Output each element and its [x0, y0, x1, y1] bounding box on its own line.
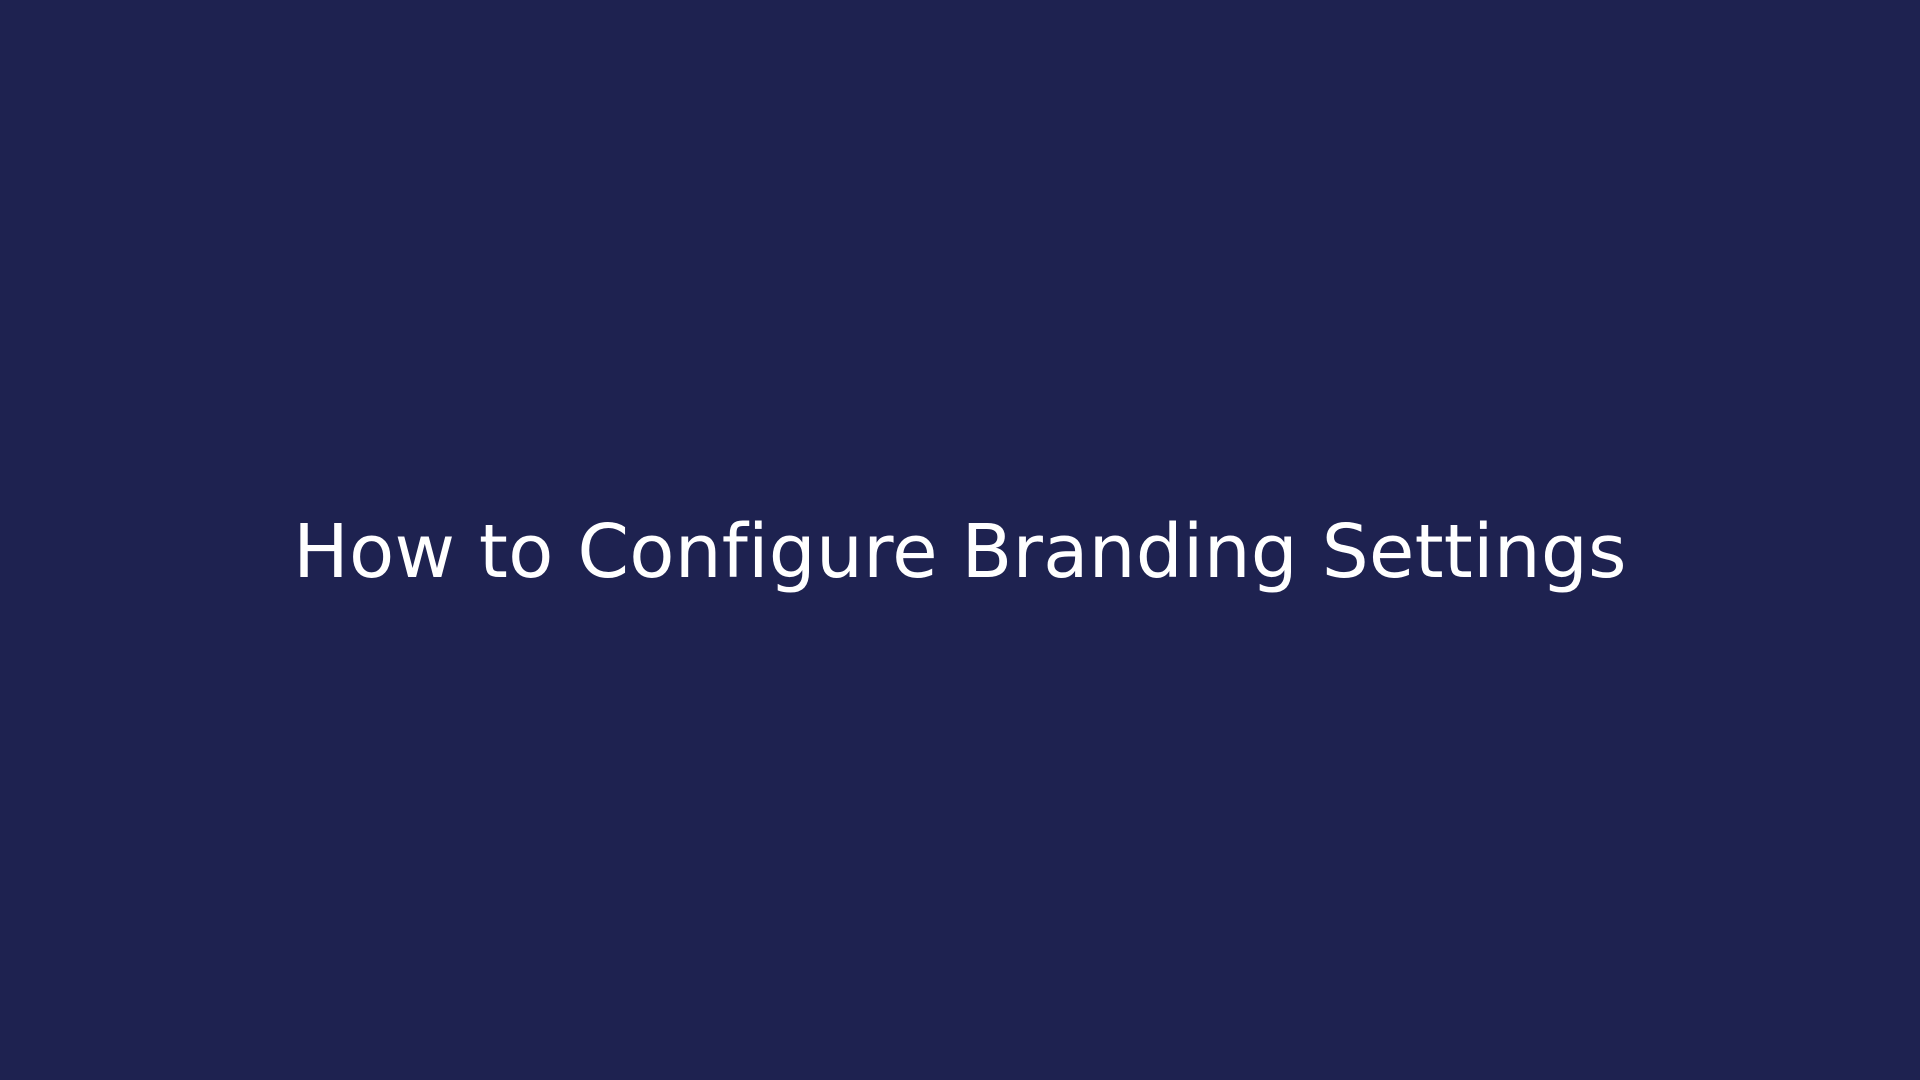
title-block: How to Configure Branding Settings: [0, 511, 1920, 594]
slide-title: How to Configure Branding Settings: [293, 511, 1627, 594]
title-slide: How to Configure Branding Settings: [0, 0, 1920, 1080]
